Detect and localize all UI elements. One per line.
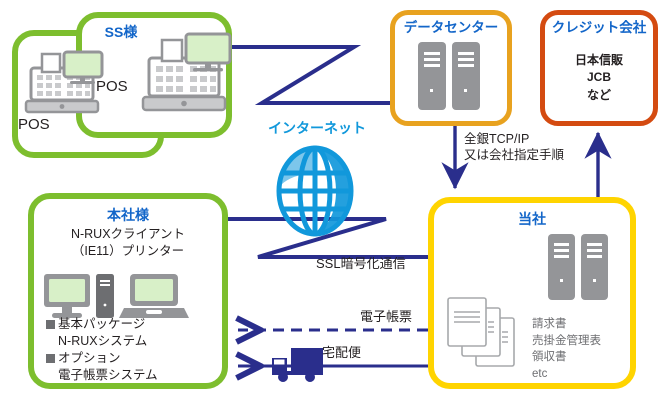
group-box-credit-company[interactable]	[540, 10, 658, 126]
delivery-truck-icon	[268, 344, 330, 389]
pos-register-icon-ss	[140, 28, 242, 123]
network-diagram-canvas: SS様 データセンター クレジット会社 本社様 当社 POS POS 日本信販 …	[0, 0, 670, 411]
desktop-laptop-icon	[42, 272, 192, 329]
document-stack-icon	[444, 294, 526, 377]
globe-icon	[272, 143, 358, 244]
server-rack-icon-tousha	[546, 232, 614, 307]
pos-register-icon-back	[22, 48, 124, 125]
server-rack-icon-datacenter	[416, 40, 486, 117]
